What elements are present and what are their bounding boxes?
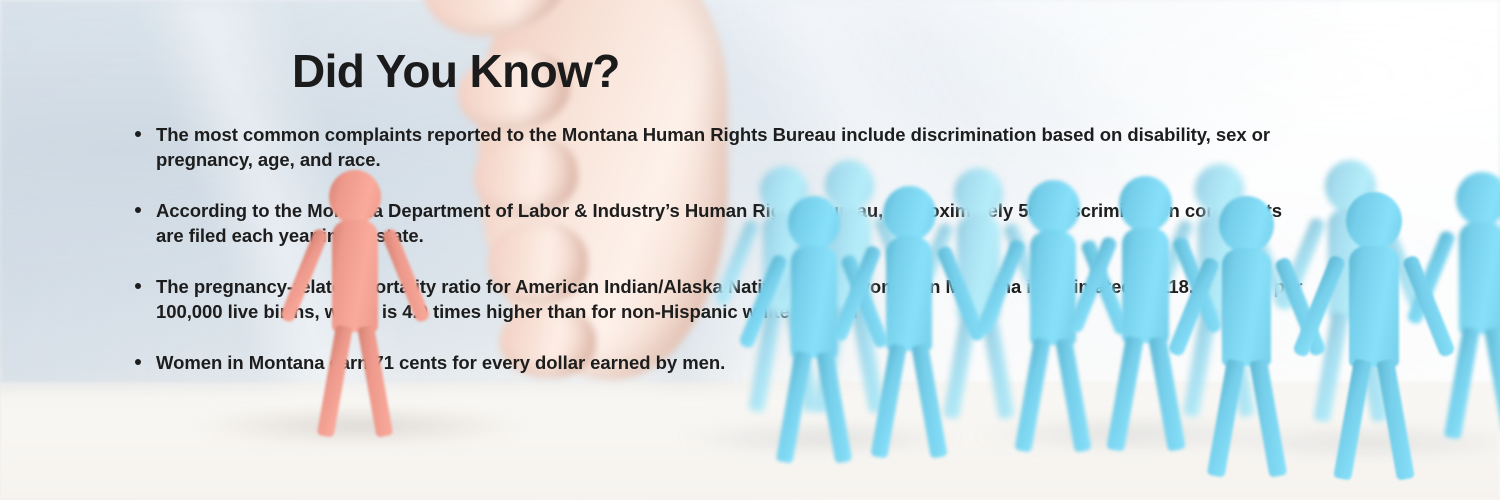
text-overlay: Did You Know? The most common complaints…	[0, 0, 1500, 500]
bullet-dot-icon	[135, 131, 141, 137]
fact-list: The most common complaints reported to t…	[126, 122, 1306, 375]
fact-text: According to the Montana Department of L…	[156, 198, 1306, 248]
fact-text: The most common complaints reported to t…	[156, 122, 1306, 172]
fact-text: Women in Montana earn 71 cents for every…	[156, 350, 1306, 375]
bullet-dot-icon	[135, 207, 141, 213]
fact-item-maternal-mortality: The pregnancy-related mortality ratio fo…	[126, 274, 1306, 324]
page-title: Did You Know?	[292, 44, 620, 98]
fact-item-complaints-types: The most common complaints reported to t…	[126, 122, 1306, 172]
fact-item-wage-gap: Women in Montana earn 71 cents for every…	[126, 350, 1306, 375]
fact-item-complaints-volume: According to the Montana Department of L…	[126, 198, 1306, 248]
did-you-know-banner: Did You Know? The most common complaints…	[0, 0, 1500, 500]
fact-text: The pregnancy-related mortality ratio fo…	[156, 274, 1306, 324]
bullet-dot-icon	[135, 283, 141, 289]
bullet-dot-icon	[135, 359, 141, 365]
